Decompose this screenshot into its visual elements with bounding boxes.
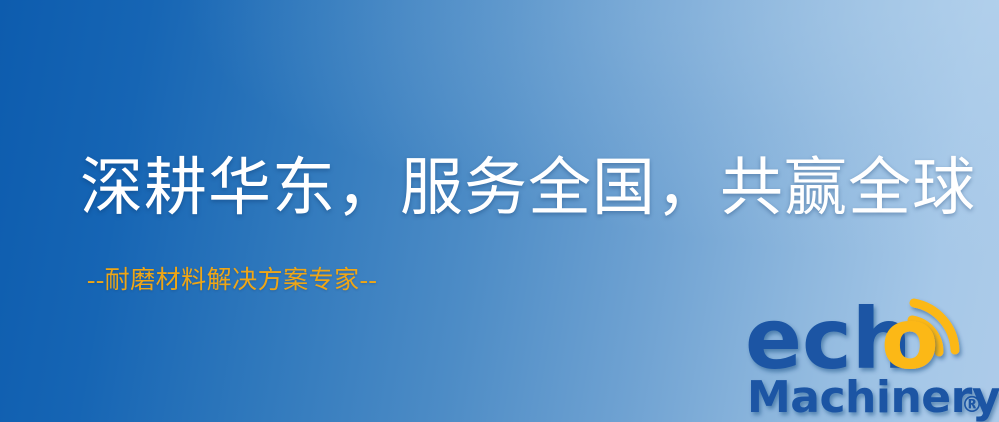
registered-trademark-icon: ® <box>961 393 983 418</box>
page-subtitle: --耐磨材料解决方案专家-- <box>87 266 377 296</box>
echo-machinery-logo[interactable]: ech o Machinery ® <box>745 296 999 422</box>
page-title: 深耕华东，服务全国，共赢全球 <box>80 152 976 224</box>
hero-banner: 深耕华东，服务全国，共赢全球 --耐磨材料解决方案专家-- ech o Mach… <box>0 0 999 422</box>
